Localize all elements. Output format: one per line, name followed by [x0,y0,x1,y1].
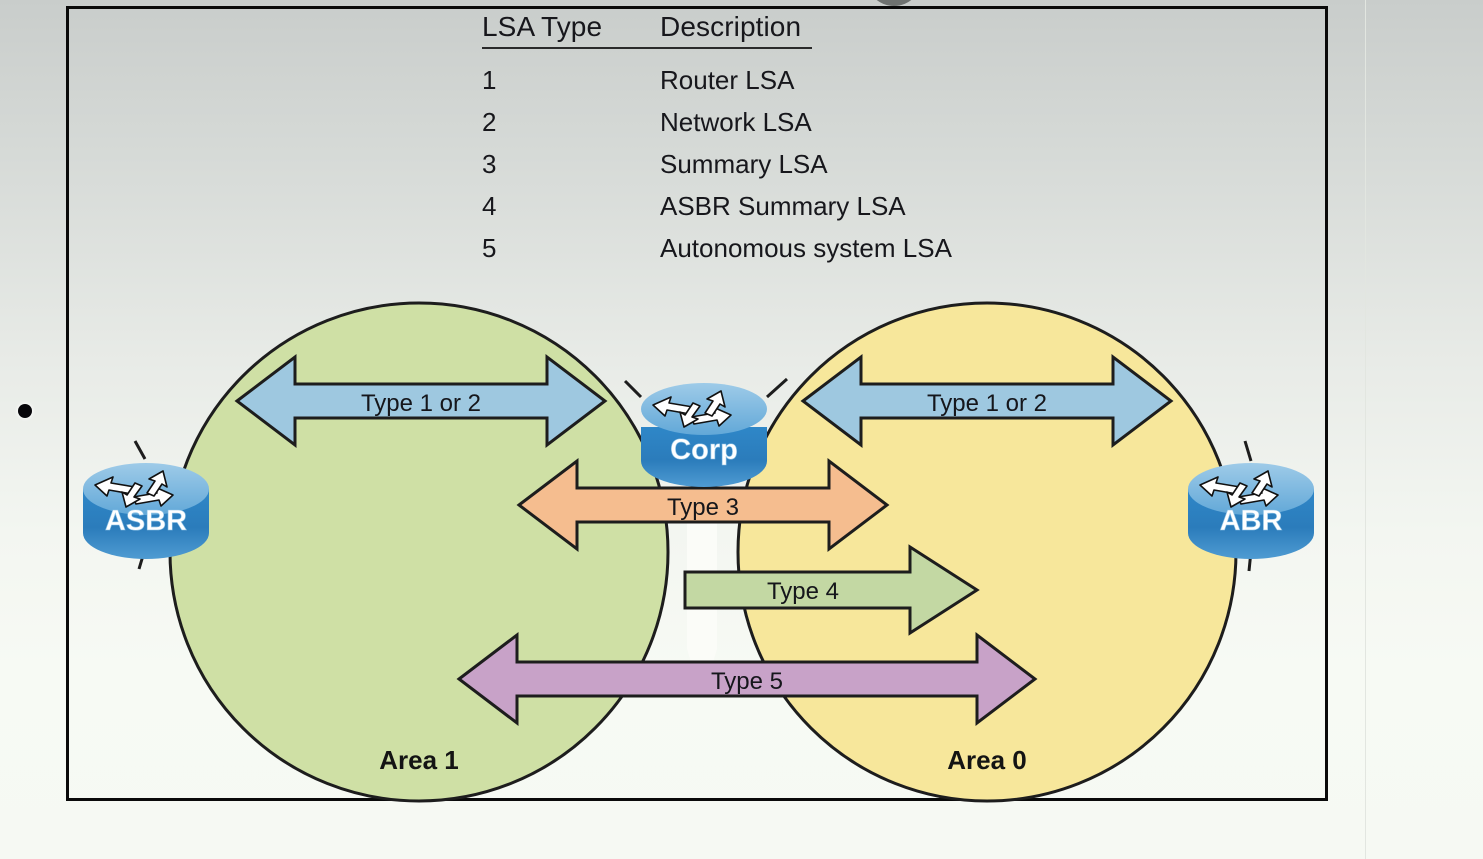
arrow-label: Type 1 or 2 [361,390,481,417]
arrow-label: Type 1 or 2 [927,390,1047,417]
area-1-circle [170,303,668,801]
page-vertical-rule [1365,0,1366,859]
arrow-label: Type 4 [767,578,839,605]
router-label: ABR [1220,505,1283,537]
margin-bullet-dot [18,404,32,418]
area-0-label: Area 0 [947,745,1027,775]
arrow-label: Type 3 [667,494,739,521]
area-0-circle [738,303,1236,801]
router-label: Corp [670,434,738,466]
area-1-label: Area 1 [379,745,459,775]
slide-frame: LSA Type Description 1 Router LSA 2 Netw… [66,6,1328,801]
arrow-label: Type 5 [711,668,783,695]
router-label: ASBR [105,505,187,537]
ospf-area-diagram: Area 1 Area 0 Type 1 or 2 Type 1 or 2 Ty… [69,9,1331,804]
